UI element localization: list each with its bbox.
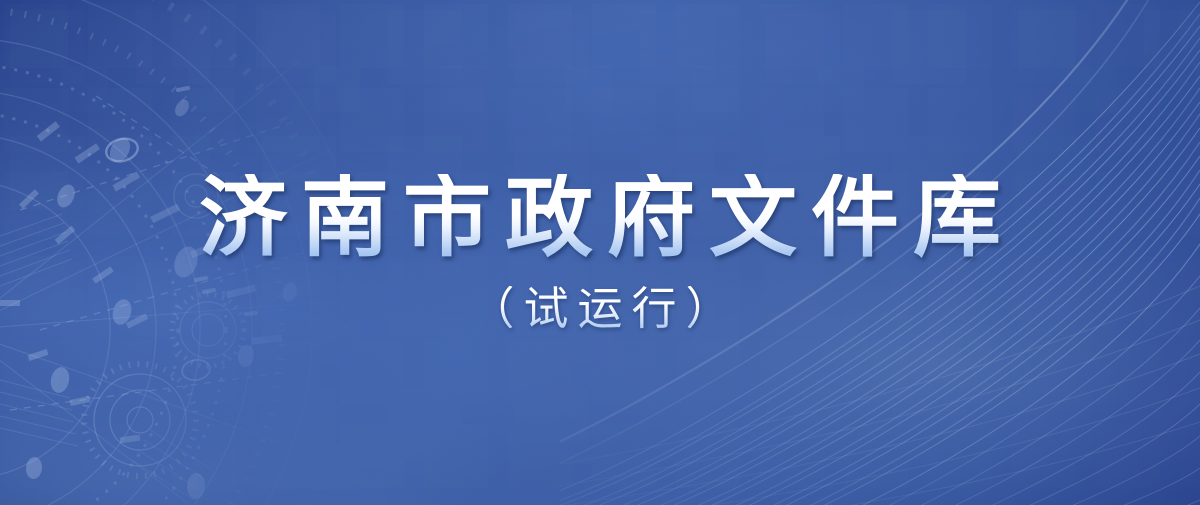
page-title: 济南市政府文件库 [185,174,1015,262]
government-document-library-banner: 济南市政府文件库 （试运行） [0,0,1200,505]
page-subtitle: （试运行） [460,286,739,331]
banner-content: 济南市政府文件库 （试运行） [0,0,1200,505]
